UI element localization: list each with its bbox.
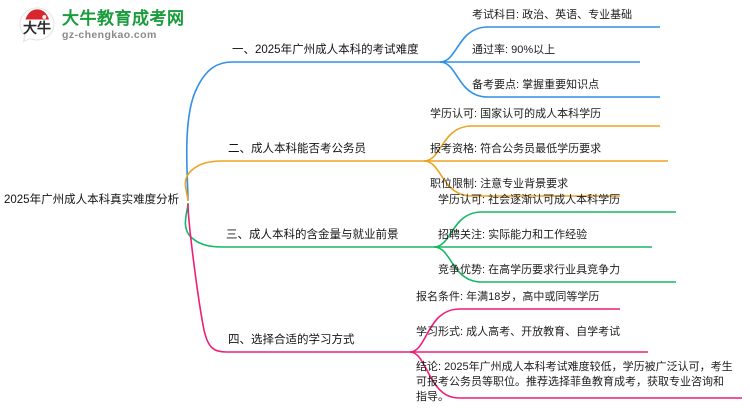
branch-2-wires [185,126,668,201]
svg-text:大牛: 大牛 [23,20,51,36]
leaf-node-3-2[interactable]: 招聘关注: 实际能力和工作经验 [438,228,587,243]
leaf-node-3-3[interactable]: 竞争优势: 在高学历要求行业具竞争力 [438,263,620,278]
leaf-node-2-3[interactable]: 职位限制: 注意专业背景要求 [430,177,568,192]
branch-node-2[interactable]: 二、成人本科能否考公务员 [228,142,366,158]
leaf-node-2-1[interactable]: 学历认可: 国家认可的成人本科学历 [430,107,601,122]
branch-node-1[interactable]: 一、2025年广州成人本科的考试难度 [232,43,419,59]
logo-title: 大牛教育成考网 [62,10,185,27]
leaf-node-4-3[interactable]: 结论: 2025年广州成人本科考试难度较低，学历被广泛认可，考生可报考公务员等职… [416,360,734,405]
logo-wordmark: 大牛教育成考网 gz-chengkao.com [62,10,185,41]
leaf-node-1-3[interactable]: 备考要点: 掌握重要知识点 [472,78,599,93]
leaf-node-4-2[interactable]: 学习形式: 成人高考、开放教育、自学考试 [416,325,620,340]
branch-node-4[interactable]: 四、选择合适的学习方式 [228,333,355,349]
leaf-node-1-2[interactable]: 通过率: 90%以上 [472,43,555,58]
leaf-node-4-1[interactable]: 报名条件: 年满18岁，高中或同等学历 [416,290,599,305]
leaf-node-1-1[interactable]: 考试科目: 政治、英语、专业基础 [472,8,632,23]
logo-bull-icon: 大牛 [18,6,56,44]
root-node[interactable]: 2025年广州成人本科真实难度分析 [4,193,179,209]
leaf-node-3-1[interactable]: 学历认可: 社会逐渐认可成人本科学历 [438,193,620,208]
branch-node-3[interactable]: 三、成人本科的含金量与就业前景 [226,228,399,244]
mindmap-canvas: 大牛 大牛教育成考网 gz-chengkao.com 2025年广州成人本科真实… [0,0,750,410]
site-logo: 大牛 大牛教育成考网 gz-chengkao.com [18,6,185,44]
leaf-node-2-2[interactable]: 报考资格: 符合公务员最低学历要求 [430,142,601,157]
logo-subtitle: gz-chengkao.com [62,30,185,41]
